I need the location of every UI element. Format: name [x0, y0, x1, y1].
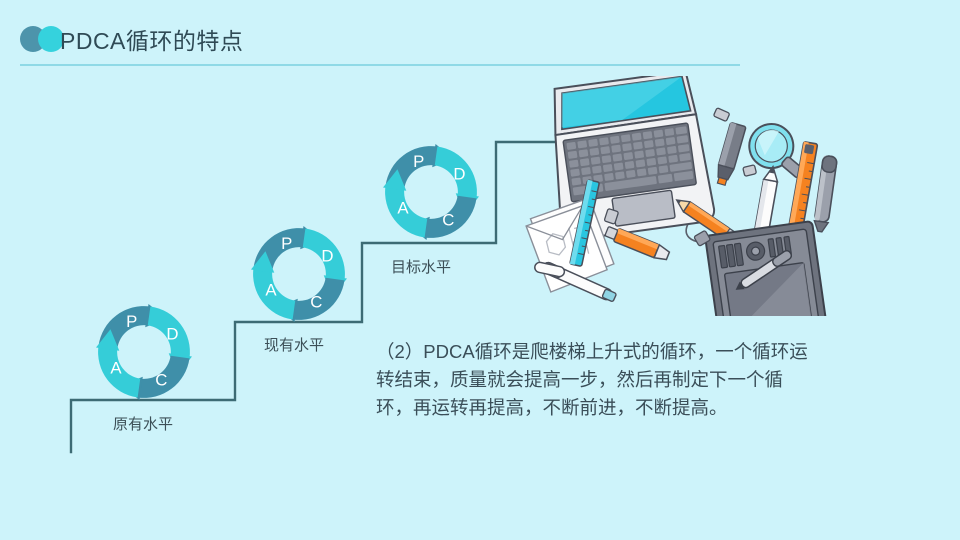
- slide-header: PDCA循环的特点: [0, 0, 960, 66]
- pdca-wheel-step-2: P D C A: [243, 218, 355, 330]
- pdca-wheel-step-3: P D C A: [375, 136, 487, 248]
- step-label-target: 目标水平: [391, 256, 451, 277]
- page-title: PDCA循环的特点: [60, 22, 243, 56]
- paper-clip-2: [743, 165, 757, 177]
- paper-clip-1: [713, 108, 729, 122]
- gray-pen: [813, 155, 837, 232]
- wheel-letter-c: C: [442, 211, 454, 230]
- wheel-letter-a: A: [110, 358, 122, 377]
- header-divider: [20, 64, 740, 66]
- wheel-letter-a: A: [397, 198, 409, 217]
- wheel-letter-c: C: [310, 293, 322, 312]
- pdca-wheel-step-1: P D C A: [88, 296, 200, 408]
- wheel-letter-p: P: [413, 152, 424, 171]
- graphics-tablet: [705, 221, 828, 316]
- wheel-letter-a: A: [265, 280, 277, 299]
- slide-root: PDCA循环的特点 P D C: [0, 0, 960, 540]
- step-label-original: 原有水平: [113, 413, 173, 434]
- body-paragraph: （2）PDCA循环是爬楼梯上升式的循环，一个循环运 转结束，质量就会提高一步，然…: [376, 338, 766, 422]
- desk-workspace-illustration: [516, 76, 846, 316]
- wheel-letter-p: P: [281, 234, 292, 253]
- gray-marker: [714, 122, 746, 186]
- wheel-letter-d: D: [166, 325, 178, 344]
- body-line-3: 环，再运转再提高，不断前进，不断提高。: [376, 394, 766, 422]
- body-line-1: （2）PDCA循环是爬楼梯上升式的循环，一个循环运: [376, 338, 766, 366]
- step-label-current: 现有水平: [264, 334, 324, 355]
- wheel-letter-p: P: [126, 312, 137, 331]
- wheel-letter-c: C: [155, 371, 167, 390]
- wheel-letter-d: D: [453, 165, 465, 184]
- body-line-2: 转结束，质量就会提高一步，然后再制定下一个循: [376, 366, 766, 394]
- wheel-letter-d: D: [321, 247, 333, 266]
